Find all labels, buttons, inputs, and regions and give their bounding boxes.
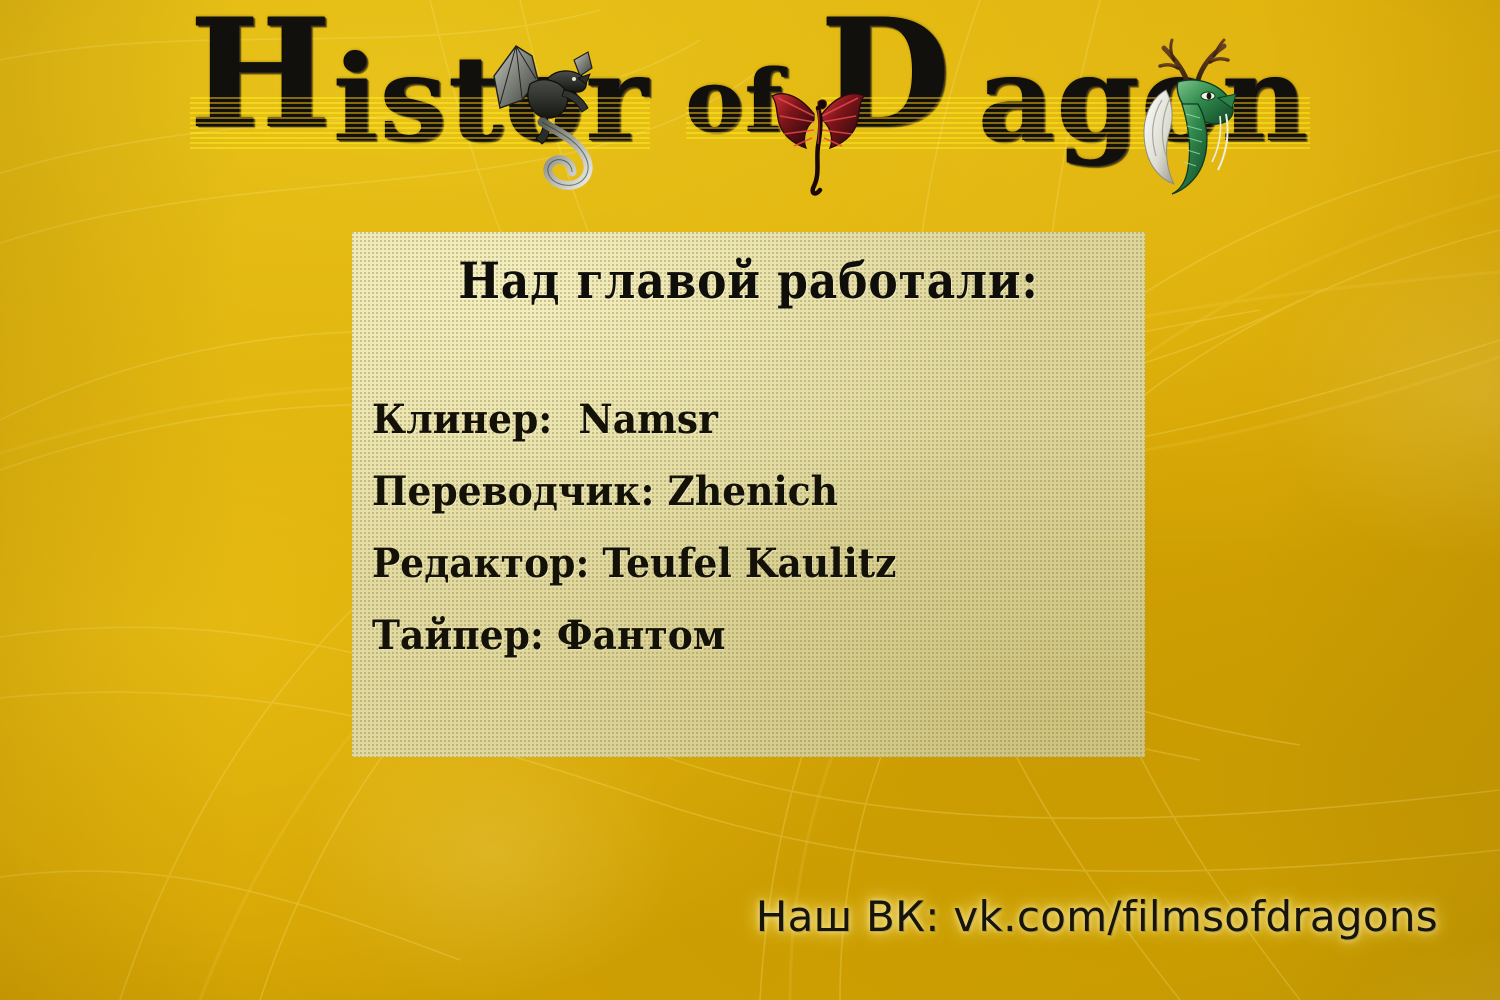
- credits-heading: Над главой работали:: [400, 256, 1098, 306]
- title-banner: Histor of Dagon: [0, 6, 1500, 176]
- title-word-of: of: [686, 59, 784, 145]
- credits-list: Клинер: Namsr Переводчик: Zhenich Редакт…: [372, 384, 1125, 672]
- credit-name-typer: Фантом: [544, 612, 726, 659]
- credit-name-translator: Zhenich: [654, 468, 838, 515]
- credit-row-editor: Редактор: Teufel Kaulitz: [372, 528, 1080, 600]
- title-letter-d: Dagon: [821, 24, 1311, 158]
- credit-role-translator: Переводчик:: [372, 468, 654, 515]
- credit-row-translator: Переводчик: Zhenich: [372, 456, 1080, 528]
- title-letter-h: Histor: [190, 24, 650, 158]
- credit-role-typer: Тайпер:: [372, 612, 544, 659]
- vk-link-text[interactable]: Наш ВК: vk.com/filmsofdragons: [756, 894, 1438, 940]
- manga-credits-page: Histor of Dagon: [0, 0, 1500, 1000]
- credit-row-cleaner: Клинер: Namsr: [372, 384, 1080, 456]
- credit-name-cleaner: Namsr: [552, 396, 718, 443]
- credit-role-cleaner: Клинер:: [372, 396, 552, 443]
- credit-row-typer: Тайпер: Фантом: [372, 600, 1080, 672]
- credit-name-editor: Teufel Kaulitz: [589, 540, 896, 587]
- credit-role-editor: Редактор:: [372, 540, 589, 587]
- credits-panel: Над главой работали: Клинер: Namsr Перев…: [352, 232, 1145, 757]
- title-row: Histor of Dagon: [190, 24, 1310, 158]
